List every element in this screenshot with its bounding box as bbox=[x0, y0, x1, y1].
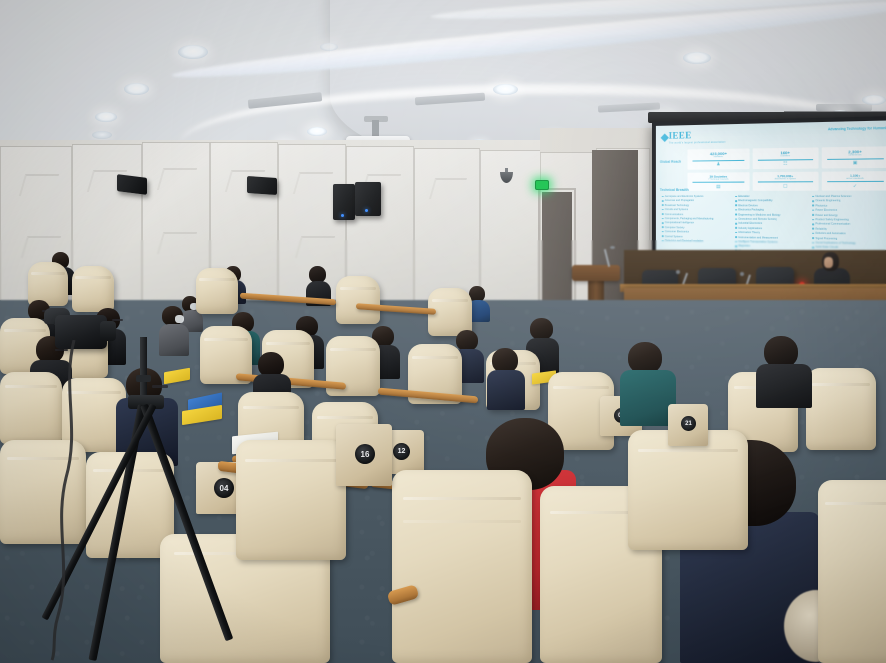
ieee-diamond-icon bbox=[661, 133, 669, 142]
auditorium-photo-scene: IEEE The world's largest professional as… bbox=[0, 0, 886, 663]
slide-bullet: Power Electronics bbox=[812, 209, 886, 213]
auditorium-seat[interactable] bbox=[72, 266, 114, 312]
bullet-dot-icon bbox=[735, 227, 737, 229]
slide-bullet: Electron Devices bbox=[735, 204, 809, 207]
seat-number-medallion: 04 bbox=[214, 478, 234, 498]
slide-bullet-text: Magnetics bbox=[738, 245, 750, 248]
dais-microphone-head bbox=[676, 270, 680, 274]
downlight-11 bbox=[862, 95, 886, 105]
seat-number: 12 bbox=[398, 448, 406, 455]
slide-bullet-text: Electronics Packaging bbox=[738, 208, 764, 211]
seat-crease bbox=[403, 520, 521, 523]
slide-bullet-text: Product Safety Engineering bbox=[815, 218, 848, 221]
downlight-17 bbox=[320, 43, 338, 51]
slide-bullet: Professional Communication bbox=[812, 223, 886, 227]
slide-bullet: Computational Intelligence bbox=[662, 221, 732, 225]
seat-crease bbox=[432, 299, 469, 302]
speaker-led-icon bbox=[341, 214, 344, 217]
seat-backrest bbox=[336, 276, 380, 324]
downlight-9 bbox=[683, 52, 711, 64]
slide-bullet-text: Computational Intelligence bbox=[665, 221, 694, 224]
slide-bullet: Education bbox=[735, 195, 809, 198]
speaker-led-icon bbox=[365, 209, 368, 212]
slide-bullet-text: Oceanic Engineering bbox=[815, 200, 840, 203]
slide-bullet: Nuclear and Plasma Sciences bbox=[812, 195, 886, 198]
slide-bullet-text: Components, Packaging and Manufacturing bbox=[665, 217, 714, 220]
wall-chevron bbox=[293, 172, 333, 194]
seat-crease bbox=[638, 449, 739, 452]
slide-bullet-text: Education bbox=[738, 195, 750, 198]
slide-bullet: Geoscience and Remote Sensing bbox=[735, 217, 809, 221]
seat-backrest bbox=[818, 480, 886, 663]
slide-header-row: IEEE The world's largest professional as… bbox=[662, 126, 886, 145]
seat-number-medallion: 21 bbox=[681, 416, 696, 431]
wall-speaker-right-b bbox=[355, 182, 381, 216]
slide-bullet: Components, Packaging and Manufacturing bbox=[662, 217, 732, 221]
stat-caption: conferences bbox=[822, 154, 886, 157]
slide-bullet-text: Aerospace and Electronic Systems bbox=[665, 195, 704, 198]
auditorium-seat[interactable] bbox=[806, 368, 876, 450]
bullet-dot-icon bbox=[812, 210, 814, 212]
auditorium-seat[interactable] bbox=[196, 268, 238, 314]
seat-number: 21 bbox=[685, 421, 692, 427]
slide-bullet-text: Electron Devices bbox=[738, 204, 757, 207]
slide-bullet-text: Industrial Electronics bbox=[738, 222, 762, 225]
stat-caption: countries bbox=[754, 155, 817, 158]
bullet-dot-icon bbox=[662, 235, 664, 237]
seat-crease bbox=[31, 272, 65, 275]
slide-row-label-technical: Technical Breadth bbox=[660, 188, 689, 192]
slide-bullet-text: Power and Energy bbox=[815, 213, 837, 216]
slide-bullet-text: Computer Society bbox=[665, 226, 685, 229]
slide-row-label-global: Global Reach bbox=[660, 160, 681, 164]
slide-bullet: Electromagnetic Compatibility bbox=[735, 199, 809, 202]
slide-bullet-text: Electromagnetic Compatibility bbox=[738, 199, 772, 202]
auditorium-seat[interactable] bbox=[392, 470, 532, 663]
bullet-dot-icon bbox=[812, 228, 814, 230]
dais-microphone-head bbox=[740, 272, 744, 276]
slide-stats-row-2: 39 Societies 7 Technical Councils ▤ 1,70… bbox=[662, 171, 886, 191]
slide-bullet-text: Photonics bbox=[815, 204, 827, 207]
stat-card: 423,000+ members ♟ bbox=[687, 148, 749, 169]
seat-number-medallion: 16 bbox=[355, 444, 375, 464]
attendee-head bbox=[530, 318, 553, 340]
ieee-logo: IEEE The world's largest professional as… bbox=[662, 129, 726, 144]
bullet-dot-icon bbox=[812, 205, 814, 207]
seat-side-panel: 16 bbox=[336, 424, 392, 486]
bullet-dot-icon bbox=[812, 223, 814, 225]
slide-bullet-text: Professional Communication bbox=[815, 223, 850, 226]
layers-icon: ▤ bbox=[688, 184, 748, 189]
wall-speaker-right-a bbox=[333, 184, 355, 220]
slide-bullet-text: Signal Processing bbox=[815, 237, 837, 240]
slide-bullet-text: Robotics and Automation bbox=[815, 232, 845, 236]
seat-backrest bbox=[72, 266, 114, 312]
bullet-dot-icon bbox=[662, 240, 664, 242]
bullet-dot-icon bbox=[812, 219, 814, 221]
slide-bullet-text: Reliability bbox=[815, 227, 827, 230]
slide-bullet: Electronics Packaging bbox=[735, 208, 809, 211]
slide-bullet-text: Intelligent Transportation Systems bbox=[738, 240, 777, 244]
wall-speaker-center bbox=[247, 176, 277, 195]
attendee-torso bbox=[487, 370, 525, 410]
seat-number-medallion: 12 bbox=[393, 443, 410, 460]
bullet-dot-icon bbox=[735, 236, 737, 238]
downlight-2 bbox=[124, 83, 149, 95]
slide-bullet: Engineering in Medicine and Biology bbox=[735, 213, 809, 217]
seat-number: 16 bbox=[361, 450, 370, 459]
downlight-10 bbox=[493, 84, 518, 95]
lectern-microphone-head bbox=[610, 246, 615, 249]
seat-crease bbox=[553, 386, 608, 389]
bullet-dot-icon bbox=[662, 227, 664, 229]
slide-bullet: Social Implications of Technology bbox=[812, 241, 886, 245]
attendee-torso bbox=[756, 364, 812, 408]
check-icon: ✓ bbox=[822, 184, 886, 189]
slide-bullet-text: Solid-State Circuits bbox=[815, 246, 838, 250]
seat-number: 04 bbox=[220, 484, 229, 493]
auditorium-seat[interactable] bbox=[336, 276, 380, 324]
slide-bullet: Information Theory bbox=[735, 231, 809, 235]
bullet-dot-icon bbox=[812, 214, 814, 216]
slide-bullet: Consumer Electronics bbox=[662, 230, 732, 234]
dome-camera-icon bbox=[500, 168, 513, 184]
exit-sign-icon bbox=[535, 180, 549, 190]
slide-bullet: Dielectrics and Electrical Insulation bbox=[662, 239, 732, 243]
slide-bullet-text: Engineering in Medicine and Biology bbox=[738, 213, 780, 216]
bullet-dot-icon bbox=[735, 241, 737, 243]
slide-bullet: Control Systems bbox=[662, 235, 732, 239]
lectern-top bbox=[572, 265, 620, 281]
slide-bullet: Signal Processing bbox=[812, 236, 886, 240]
face-mask bbox=[175, 315, 184, 323]
downlight-7 bbox=[307, 127, 327, 136]
seat-crease bbox=[825, 502, 886, 505]
bullet-dot-icon bbox=[735, 205, 737, 207]
slide-bullet-text: Broadcast Technology bbox=[665, 204, 689, 207]
bullet-dot-icon bbox=[662, 209, 664, 211]
bullet-dot-icon bbox=[812, 233, 814, 235]
slide-bullet-text: Information Theory bbox=[738, 231, 760, 234]
slide-bullet: Communications bbox=[662, 213, 732, 216]
slide-bullet: Photonics bbox=[812, 204, 886, 207]
camera-cable bbox=[40, 340, 100, 663]
dome-camera-body bbox=[500, 172, 513, 183]
stat-rule bbox=[758, 181, 813, 182]
stat-caption: active standards bbox=[822, 177, 886, 180]
video-camera-lens bbox=[100, 321, 116, 341]
seat-backrest bbox=[28, 262, 68, 306]
stat-caption: members bbox=[688, 156, 748, 159]
slide-bullet: Power and Energy bbox=[812, 213, 886, 217]
stat-caption: 7 Technical Councils bbox=[688, 178, 748, 180]
stat-caption: documents in Xplore bbox=[754, 177, 817, 179]
stat-card: 2,300+ conferences ▣ bbox=[821, 146, 886, 168]
slide-bullet-text: Control Systems bbox=[665, 235, 683, 238]
wall-chevron bbox=[157, 168, 197, 190]
auditorium-seat[interactable] bbox=[628, 430, 748, 550]
stat-card: 1,100+ active standards ✓ bbox=[821, 171, 886, 191]
bullet-dot-icon bbox=[735, 200, 737, 202]
slide-bullet: Circuits and Systems bbox=[662, 208, 732, 211]
wall-chevron bbox=[429, 178, 467, 199]
seat-backrest bbox=[806, 368, 876, 450]
slide-stats-row-1: 423,000+ members ♟ 160+ countries ☷ 2,30… bbox=[662, 146, 886, 169]
bullet-dot-icon bbox=[662, 196, 664, 198]
person-icon: ♟ bbox=[688, 162, 748, 167]
stat-rule bbox=[692, 182, 744, 183]
stat-rule bbox=[827, 181, 884, 182]
seat-crease bbox=[93, 469, 167, 472]
slide-bullet-text: Consumer Electronics bbox=[665, 230, 689, 233]
slide-bullet: Industry Applications bbox=[735, 227, 809, 231]
slide-bullet: Instrumentation and Measurement bbox=[735, 236, 809, 240]
bullet-dot-icon bbox=[662, 205, 664, 207]
slide-bullet-text: Power Electronics bbox=[815, 209, 837, 212]
document-icon: ☐ bbox=[754, 184, 817, 189]
slide-bullet-text: Circuits and Systems bbox=[665, 208, 688, 211]
slide-bullet-text: Social Implications of Technology bbox=[815, 241, 855, 245]
bullet-dot-icon bbox=[812, 237, 814, 239]
seat-crease bbox=[75, 276, 110, 279]
slide-bullet-text: Nuclear and Plasma Sciences bbox=[815, 195, 852, 198]
bullet-dot-icon bbox=[812, 200, 814, 202]
bullet-dot-icon bbox=[662, 218, 664, 220]
seat-backrest bbox=[196, 268, 238, 314]
slide-bullet: Aerospace and Electronic Systems bbox=[662, 195, 732, 198]
slide-bullet-text: Geoscience and Remote Sensing bbox=[738, 218, 777, 221]
bullet-dot-icon bbox=[812, 242, 814, 244]
seat-crease bbox=[330, 348, 375, 351]
seat-backrest bbox=[236, 440, 346, 560]
wall-chevron bbox=[19, 174, 59, 196]
globe-icon: ☷ bbox=[754, 161, 817, 166]
slide-bullet-text: Instrumentation and Measurement bbox=[738, 236, 778, 240]
slide-bullet: Intelligent Transportation Systems bbox=[735, 240, 809, 244]
slide-bullet: Reliability bbox=[812, 227, 886, 231]
slide-bullet: Antennas and Propagation bbox=[662, 199, 732, 202]
bullet-dot-icon bbox=[662, 200, 664, 202]
bullet-dot-icon bbox=[735, 232, 737, 234]
stat-card: 160+ countries ☷ bbox=[753, 147, 818, 168]
slide-bullet-text: Antennas and Propagation bbox=[665, 199, 694, 202]
bullet-dot-icon bbox=[735, 196, 737, 198]
bullet-dot-icon bbox=[662, 213, 664, 215]
slide-bullet: Robotics and Automation bbox=[812, 232, 886, 236]
seat-crease bbox=[243, 406, 298, 409]
auditorium-seat[interactable] bbox=[818, 480, 886, 663]
bullet-dot-icon bbox=[735, 214, 737, 216]
downlight-3 bbox=[95, 112, 117, 122]
wall-speaker-left bbox=[117, 174, 147, 195]
seat-crease bbox=[812, 383, 871, 386]
bullet-dot-icon bbox=[735, 209, 737, 211]
slide-bullet: Computer Society bbox=[662, 226, 732, 230]
attendee-torso bbox=[159, 324, 189, 356]
slide-bullet: Product Safety Engineering bbox=[812, 218, 886, 222]
seat-backrest bbox=[628, 430, 748, 550]
slide-bullet-text: Industry Applications bbox=[738, 227, 762, 230]
eyeglasses-icon bbox=[152, 385, 168, 388]
auditorium-seat[interactable] bbox=[28, 262, 68, 306]
bullet-dot-icon bbox=[735, 218, 737, 220]
bullet-dot-icon bbox=[662, 231, 664, 233]
downlight-1 bbox=[178, 45, 208, 59]
slide-bullet: Magnetics bbox=[735, 245, 809, 249]
wall-chevron bbox=[157, 232, 197, 254]
seat-side-panel: 21 bbox=[668, 404, 708, 446]
auditorium-seat[interactable] bbox=[236, 440, 346, 560]
slide-bullet: Oceanic Engineering bbox=[812, 200, 886, 203]
presenter-face bbox=[824, 257, 833, 268]
bullet-dot-icon bbox=[812, 196, 814, 198]
bullet-dot-icon bbox=[812, 246, 814, 248]
bullet-dot-icon bbox=[735, 223, 737, 225]
calendar-icon: ▣ bbox=[822, 160, 886, 165]
stat-card: 1,700,000+ documents in Xplore ☐ bbox=[753, 171, 818, 191]
seat-crease bbox=[317, 416, 372, 419]
seat-crease bbox=[4, 329, 46, 332]
slide-bullet: Industrial Electronics bbox=[735, 222, 809, 226]
seat-crease bbox=[266, 342, 310, 345]
slide-bullet-text: Dielectrics and Electrical Insulation bbox=[665, 239, 703, 243]
seat-crease bbox=[403, 497, 521, 500]
seat-crease bbox=[412, 356, 457, 359]
seat-crease bbox=[340, 287, 377, 290]
wall-chevron bbox=[295, 236, 335, 258]
bullet-dot-icon bbox=[735, 245, 737, 247]
seat-crease bbox=[245, 459, 337, 462]
seat-crease bbox=[204, 338, 248, 341]
bullet-dot-icon bbox=[662, 222, 664, 224]
slide-bullet-text: Communications bbox=[665, 213, 683, 216]
seat-crease bbox=[199, 278, 234, 281]
seat-backrest bbox=[392, 470, 532, 663]
slide-bullet: Broadcast Technology bbox=[662, 204, 732, 207]
downlight-4 bbox=[92, 131, 112, 139]
slide-corner-note: Advancing Technology for Humanity bbox=[828, 126, 886, 132]
ieee-wordmark: IEEE bbox=[669, 129, 726, 140]
stat-card: 39 Societies 7 Technical Councils ▤ bbox=[687, 172, 749, 191]
ieee-tagline: The world's largest professional associa… bbox=[669, 141, 726, 145]
